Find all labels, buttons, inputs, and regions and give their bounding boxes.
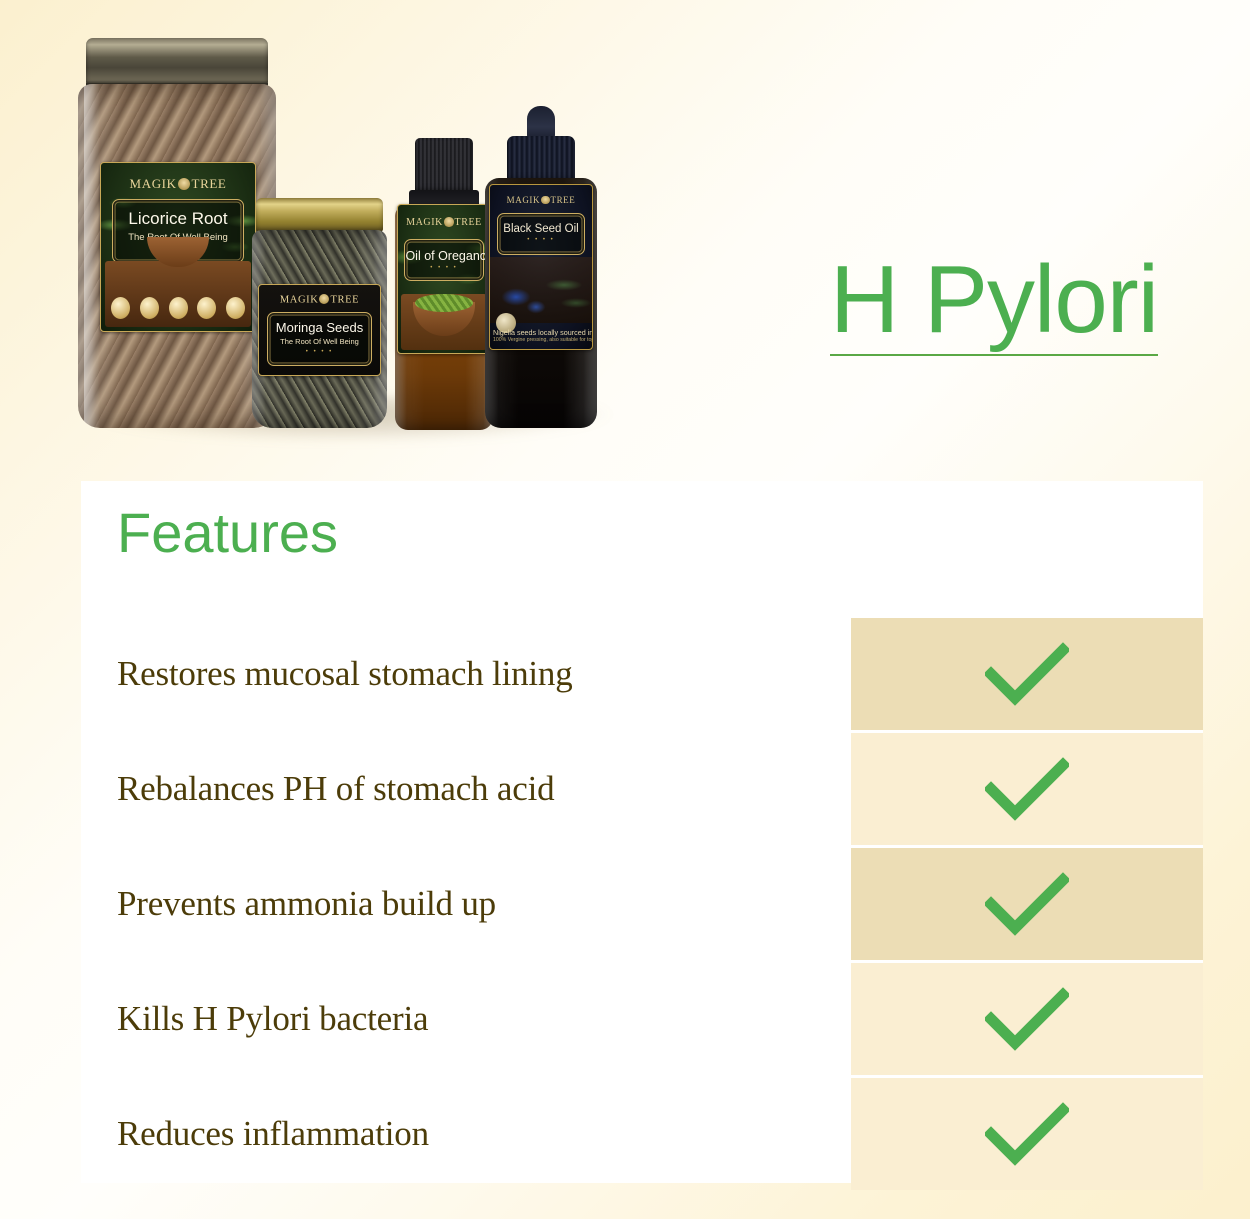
brand-logo-text: MMAGIK TREEAGIKTREE bbox=[490, 195, 592, 205]
product-black-seed-oil-bottle: MMAGIK TREEAGIKTREE Black Seed Oil • • •… bbox=[485, 106, 597, 428]
feature-row: Restores mucosal stomach lining bbox=[81, 618, 1203, 730]
bowl-icon bbox=[147, 237, 209, 267]
page-title-text: H Pylori bbox=[830, 252, 1158, 356]
tree-leaf-icon bbox=[319, 294, 329, 304]
label-cartouche: Black Seed Oil • • • • bbox=[497, 213, 585, 255]
brand-logo-text: MMAGIK TREEAGIKTREE bbox=[398, 217, 490, 228]
feature-check-cell bbox=[851, 848, 1203, 960]
feature-check-cell bbox=[851, 733, 1203, 845]
product-name: Oil of Oregano bbox=[405, 249, 482, 263]
brand-logo-text: MMAGIK TREEAGIKTREE bbox=[101, 176, 255, 192]
check-icon bbox=[985, 1100, 1069, 1168]
label-scene-art bbox=[105, 261, 251, 327]
features-heading: Features bbox=[117, 505, 338, 561]
product-label-moringa-seeds: MMAGIK TREEAGIKTREE Moringa Seeds The Ro… bbox=[258, 284, 381, 376]
product-licorice-root-jar: MMAGIK TREEAGIKTREE Licorice Root The Ro… bbox=[78, 38, 276, 428]
feature-label: Prevents ammonia build up bbox=[117, 885, 496, 924]
product-moringa-seeds-jar: MMAGIK TREEAGIKTREE Moringa Seeds The Ro… bbox=[252, 198, 387, 428]
label-dots: • • • • bbox=[405, 265, 482, 271]
product-label-licorice-root: MMAGIK TREEAGIKTREE Licorice Root The Ro… bbox=[100, 162, 256, 332]
product-tagline: Nigella seeds locally sourced in Turkey bbox=[493, 328, 589, 337]
product-oil-of-oregano-bottle: MMAGIK TREEAGIKTREE Oil of Oregano • • •… bbox=[395, 138, 493, 430]
feature-label: Rebalances PH of stomach acid bbox=[117, 770, 554, 809]
feature-row: Kills H Pylori bacteria bbox=[81, 963, 1203, 1075]
bottle-cap bbox=[415, 138, 473, 194]
product-group-image: MMAGIK TREEAGIKTREE Licorice Root The Ro… bbox=[70, 28, 630, 428]
product-label-black-seed-oil: MMAGIK TREEAGIKTREE Black Seed Oil • • •… bbox=[489, 184, 593, 350]
feature-label: Kills H Pylori bacteria bbox=[117, 1000, 428, 1039]
check-icon bbox=[985, 640, 1069, 708]
page-title: H Pylori bbox=[830, 252, 1190, 356]
tree-leaf-icon bbox=[178, 178, 190, 190]
feature-row: Rebalances PH of stomach acid bbox=[81, 733, 1203, 845]
hero-section: MMAGIK TREEAGIKTREE Licorice Root The Ro… bbox=[0, 0, 1250, 470]
product-label-oil-of-oregano: MMAGIK TREEAGIKTREE Oil of Oregano • • •… bbox=[397, 204, 491, 354]
check-icon bbox=[985, 985, 1069, 1053]
feature-check-cell bbox=[851, 963, 1203, 1075]
bowl-icon bbox=[413, 302, 475, 336]
label-dots: • • • • bbox=[498, 237, 584, 243]
features-row-list: Restores mucosal stomach liningRebalance… bbox=[81, 618, 1203, 1190]
label-cartouche: Moringa Seeds The Root Of Well Being • •… bbox=[267, 312, 371, 366]
feature-row: Prevents ammonia build up bbox=[81, 848, 1203, 960]
label-cartouche: Oil of Oregano • • • • bbox=[404, 239, 483, 281]
dropper-cap bbox=[507, 136, 575, 184]
feature-check-cell bbox=[851, 618, 1203, 730]
jar-lid bbox=[86, 38, 268, 86]
feature-check-cell bbox=[851, 1078, 1203, 1190]
jar-lid-gold bbox=[256, 198, 383, 232]
feature-label: Restores mucosal stomach lining bbox=[117, 655, 573, 694]
check-icon bbox=[985, 755, 1069, 823]
feature-label: Reduces inflammation bbox=[117, 1115, 429, 1154]
brand-logo-text: MMAGIK TREEAGIKTREE bbox=[259, 294, 380, 305]
label-scene-art bbox=[401, 294, 487, 350]
label-coin-row bbox=[111, 297, 245, 319]
product-tagline: The Root Of Well Being bbox=[268, 337, 370, 346]
product-subtagline: 100% Vergine pressing, also suitable for… bbox=[493, 337, 589, 344]
tree-leaf-icon bbox=[541, 196, 550, 205]
tree-leaf-icon bbox=[444, 217, 454, 227]
feature-row: Reduces inflammation bbox=[81, 1078, 1203, 1190]
product-name: Black Seed Oil bbox=[498, 223, 584, 235]
features-panel: Features Restores mucosal stomach lining… bbox=[81, 481, 1203, 1183]
product-name: Moringa Seeds bbox=[268, 320, 370, 335]
label-footer-text: Nigella seeds locally sourced in Turkey … bbox=[493, 328, 589, 344]
product-name: Licorice Root bbox=[113, 209, 243, 229]
label-dots: • • • • bbox=[268, 349, 370, 355]
infographic-canvas: MMAGIK TREEAGIKTREE Licorice Root The Ro… bbox=[0, 0, 1250, 1219]
check-icon bbox=[985, 870, 1069, 938]
